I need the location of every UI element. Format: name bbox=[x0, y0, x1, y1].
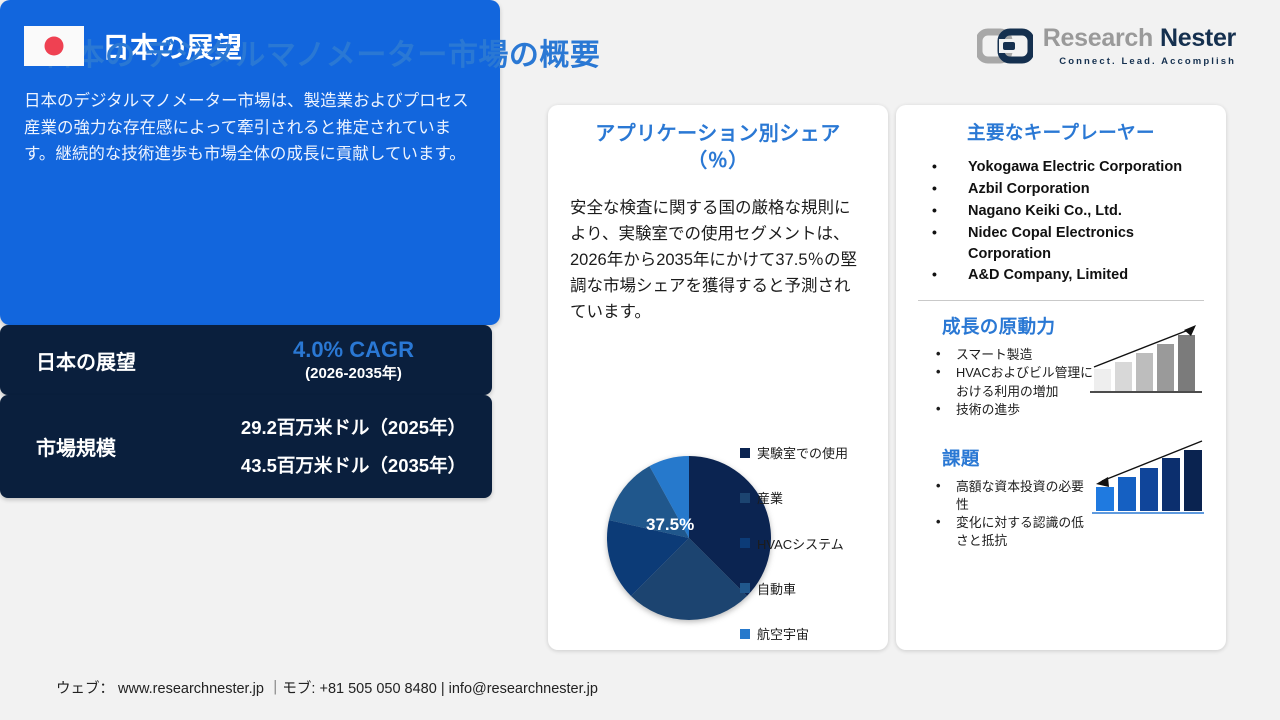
market-size-2035: 43.5百万米ドル（2035年） bbox=[215, 447, 492, 485]
stat-label: 日本の展望 bbox=[0, 346, 215, 375]
stat-values: 29.2百万米ドル（2025年） 43.5百万米ドル（2035年） bbox=[215, 409, 492, 485]
key-player-item: Azbil Corporation bbox=[914, 179, 1208, 200]
page-title: 日本の デジタルマノメーター市場の概要 bbox=[44, 30, 600, 74]
challenges-chart bbox=[1088, 439, 1206, 519]
cagr-period: (2026-2035年) bbox=[215, 362, 492, 383]
legend-swatch bbox=[740, 448, 750, 458]
pie-data-label: 37.5% bbox=[646, 515, 694, 535]
key-players-list: Yokogawa Electric CorporationAzbil Corpo… bbox=[914, 157, 1208, 286]
logo-word-research: Research bbox=[1043, 26, 1153, 51]
challenges-section: 課題 高額な資本投資の必要性変化に対する認識の低さと抵抗 bbox=[914, 445, 1208, 551]
logo-word-nester: Nester bbox=[1160, 26, 1236, 51]
growth-driver-item: HVACおよびビル管理における利用の増加 bbox=[914, 364, 1094, 400]
challenge-item: 変化に対する認識の低さと抵抗 bbox=[914, 514, 1094, 550]
cagr-value: 4.0% CAGR bbox=[215, 337, 492, 362]
pie-legend: 実験室での使用産業HVACシステム自動車航空宇宙 bbox=[740, 443, 880, 643]
challenge-item: 高額な資本投資の必要性 bbox=[914, 478, 1094, 514]
key-player-item: Nagano Keiki Co., Ltd. bbox=[914, 201, 1208, 222]
legend-label: 実験室での使用 bbox=[757, 443, 848, 462]
key-player-item: Yokogawa Electric Corporation bbox=[914, 157, 1208, 178]
brand-logo: Research Nester Connect. Lead. Accomplis… bbox=[977, 26, 1236, 67]
legend-label: 航空宇宙 bbox=[757, 624, 809, 643]
footer-contact: ウェブ： www.researchnester.jp ｜モブ: +81 505 … bbox=[56, 677, 598, 698]
slide-root: 日本の デジタルマノメーター市場の概要 Research Nester Conn… bbox=[0, 0, 1280, 720]
stat-card-market-size: 市場規模 29.2百万米ドル（2025年） 43.5百万米ドル（2035年） bbox=[0, 395, 492, 498]
hero-description: 日本のデジタルマノメーター市場は、製造業およびプロセス産業の強力な存在感によって… bbox=[24, 88, 476, 168]
market-size-2025: 29.2百万米ドル（2025年） bbox=[215, 409, 492, 447]
key-player-item: Nidec Copal Electronics Corporation bbox=[914, 223, 1208, 265]
key-player-item: A&D Company, Limited bbox=[914, 265, 1208, 286]
legend-swatch bbox=[740, 629, 750, 639]
legend-item: 自動車 bbox=[740, 579, 880, 598]
legend-item: 実験室での使用 bbox=[740, 443, 880, 462]
legend-item: 航空宇宙 bbox=[740, 624, 880, 643]
logo-tagline: Connect. Lead. Accomplish bbox=[1043, 57, 1236, 67]
legend-item: HVACシステム bbox=[740, 534, 880, 553]
application-share-title: アプリケーション別シェア（％） bbox=[570, 121, 866, 175]
application-share-card: アプリケーション別シェア（％） 安全な検査に関する国の厳格な規則により、実験室で… bbox=[548, 105, 888, 650]
challenges-list: 高額な資本投資の必要性変化に対する認識の低さと抵抗 bbox=[914, 478, 1094, 551]
legend-label: HVACシステム bbox=[757, 534, 844, 553]
legend-item: 産業 bbox=[740, 488, 880, 507]
stat-label: 市場規模 bbox=[0, 432, 215, 461]
key-players-title: 主要なキープレーヤー bbox=[914, 119, 1208, 145]
logo-mark-icon bbox=[977, 28, 1033, 64]
legend-swatch bbox=[740, 538, 750, 548]
application-share-description: 安全な検査に関する国の厳格な規則により、実験室での使用セグメントは、2026年か… bbox=[570, 195, 866, 325]
legend-label: 産業 bbox=[757, 488, 783, 507]
growth-drivers-section: 成長の原動力 スマート製造HVACおよびビル管理における利用の増加技術の進歩 bbox=[914, 313, 1208, 419]
legend-swatch bbox=[740, 493, 750, 503]
section-divider bbox=[918, 300, 1204, 301]
pie-chart-region: 37.5% 実験室での使用産業HVACシステム自動車航空宇宙 bbox=[560, 443, 876, 643]
growth-drivers-chart bbox=[1088, 319, 1206, 399]
growth-driver-item: 技術の進歩 bbox=[914, 401, 1094, 419]
legend-swatch bbox=[740, 583, 750, 593]
key-players-card: 主要なキープレーヤー Yokogawa Electric Corporation… bbox=[896, 105, 1226, 650]
stat-card-cagr: 日本の展望 4.0% CAGR (2026-2035年) bbox=[0, 325, 492, 395]
growth-driver-item: スマート製造 bbox=[914, 346, 1094, 364]
legend-label: 自動車 bbox=[757, 579, 796, 598]
stat-values: 4.0% CAGR (2026-2035年) bbox=[215, 337, 492, 383]
growth-drivers-list: スマート製造HVACおよびビル管理における利用の増加技術の進歩 bbox=[914, 346, 1094, 419]
japan-flag-icon bbox=[24, 26, 84, 66]
